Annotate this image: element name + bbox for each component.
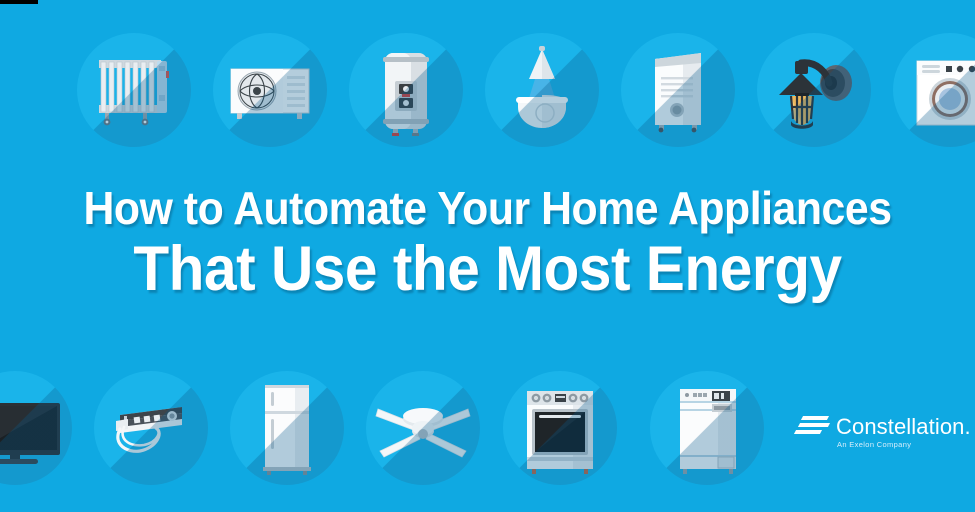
logo-tagline: An Exelon Company	[837, 440, 911, 449]
dehumidifier-art	[621, 33, 735, 147]
dehumidifier-icon	[621, 33, 735, 147]
oven-stove-icon	[503, 371, 617, 485]
washing-machine-art	[893, 33, 975, 147]
television-art	[0, 371, 72, 485]
wall-lamp-art	[757, 33, 871, 147]
oil-radiator-heater-art	[77, 33, 191, 147]
power-strip-art	[94, 371, 208, 485]
ceiling-fan-art	[366, 371, 480, 485]
refrigerator-art	[230, 371, 344, 485]
corner-marker	[0, 0, 38, 4]
refrigerator-icon	[230, 371, 344, 485]
water-heater-art	[349, 33, 463, 147]
dishwasher-art	[650, 371, 764, 485]
headline-line-1: How to Automate Your Home Appliances	[34, 182, 941, 234]
infographic-header: How to Automate Your Home Appliances Tha…	[0, 0, 975, 512]
constellation-mark-icon	[795, 416, 830, 438]
logo-wordmark: Constellation.	[836, 414, 971, 440]
logo-name: Constellation	[836, 414, 965, 439]
power-strip-icon	[94, 371, 208, 485]
dishwasher-icon	[650, 371, 764, 485]
washing-machine-icon	[893, 33, 975, 147]
humidifier-art	[485, 33, 599, 147]
page-title: How to Automate Your Home Appliances Tha…	[0, 182, 975, 304]
oven-stove-art	[503, 371, 617, 485]
logo-trademark-dot: .	[965, 414, 971, 439]
air-conditioner-icon	[213, 33, 327, 147]
wall-lamp-icon	[757, 33, 871, 147]
air-conditioner-art	[213, 33, 327, 147]
humidifier-icon	[485, 33, 599, 147]
headline-line-2: That Use the Most Energy	[34, 234, 941, 304]
constellation-logo[interactable]: Constellation. An Exelon Company	[795, 412, 965, 462]
water-heater-icon	[349, 33, 463, 147]
television-icon	[0, 371, 72, 485]
ceiling-fan-icon	[366, 371, 480, 485]
oil-radiator-heater-icon	[77, 33, 191, 147]
